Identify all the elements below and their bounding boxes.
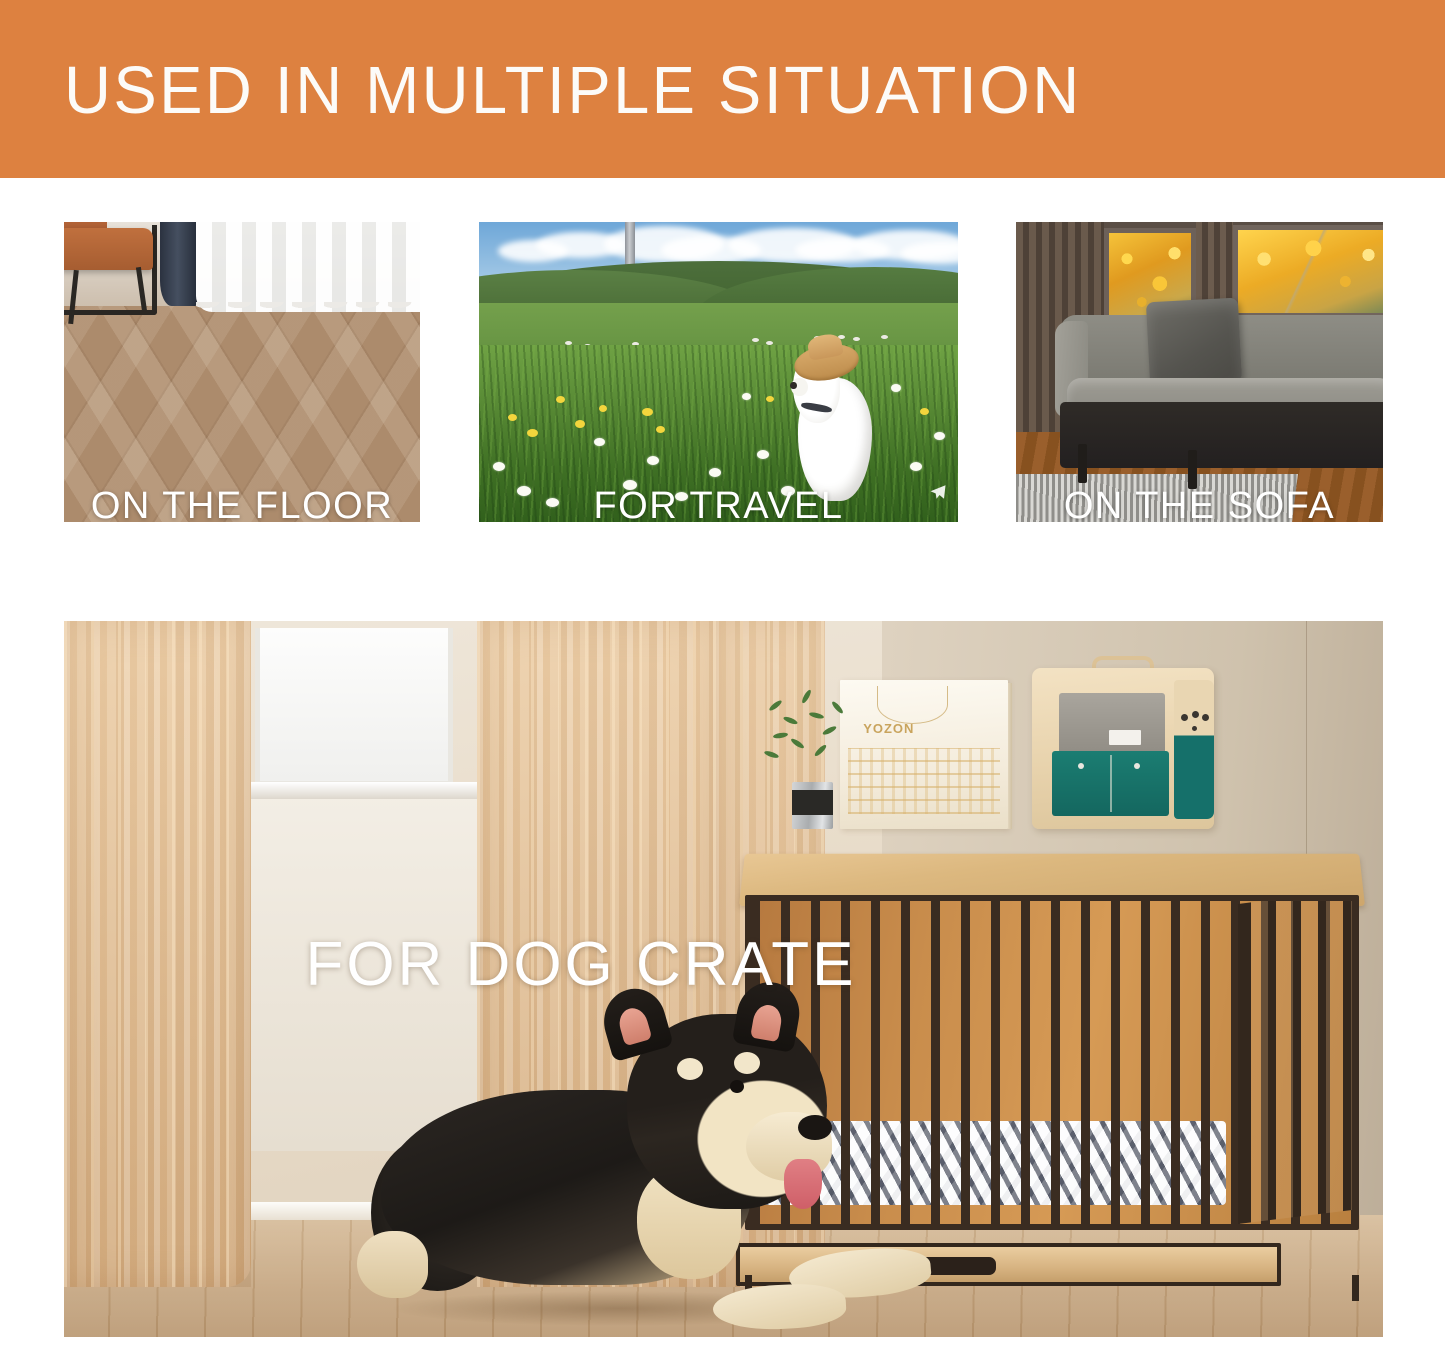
page-title: USED IN MULTIPLE SITUATION	[64, 52, 1082, 129]
armchair-seat	[64, 228, 153, 270]
carrier-front-pockets	[1052, 751, 1168, 815]
window-right	[1233, 225, 1383, 318]
pocket-snap-stud	[1078, 763, 1084, 769]
carrier-vent-hole	[1202, 714, 1209, 721]
dog-nose	[798, 1115, 831, 1140]
plant-pot-tin-can	[792, 782, 833, 829]
scenario-label-on-the-sofa: ON THE SOFA	[1016, 485, 1383, 522]
scenario-card-on-the-floor[interactable]: ON THE FLOOR	[64, 222, 420, 522]
travel-scene-image	[479, 222, 958, 522]
hero-label-for-dog-crate: FOR DOG CRATE	[64, 929, 1383, 1000]
scenario-card-for-travel[interactable]: FOR TRAVEL	[479, 222, 958, 522]
carrier-vent-hole	[1181, 714, 1188, 721]
scenario-card-on-the-sofa[interactable]: ON THE SOFA	[1016, 222, 1383, 522]
dark-curtain	[160, 222, 199, 306]
potted-plant-foliage	[756, 685, 875, 792]
carrier-brand-tag	[1109, 730, 1142, 744]
window-sill	[235, 782, 486, 799]
carrier-side-panel	[1174, 680, 1214, 819]
sofa-leg	[1188, 450, 1197, 489]
carrier-vent-hole	[1192, 711, 1199, 718]
dog-eyebrow-marking-right	[734, 1052, 760, 1074]
dog-rear-paw	[357, 1231, 428, 1297]
header-banner: USED IN MULTIPLE SITUATION	[0, 0, 1445, 178]
pet-carrier-backpack	[1032, 668, 1214, 829]
scenario-label-on-the-floor: ON THE FLOOR	[64, 485, 420, 522]
sofa-scene-image	[1016, 222, 1383, 522]
throw-cushion	[1146, 298, 1242, 387]
scenario-thumbnail-row: ON THE FLOOR	[0, 222, 1445, 522]
gift-bag-handle	[877, 686, 948, 725]
sheer-curtain	[196, 222, 420, 312]
sofa-base	[1060, 402, 1383, 468]
floor-scene-image	[64, 222, 420, 522]
paper-plane-icon	[929, 483, 947, 501]
dog-tongue	[784, 1159, 822, 1209]
gift-bag-side-gusset	[1008, 683, 1012, 829]
hero-image-for-dog-crate[interactable]: YOZON	[64, 621, 1383, 1337]
sofa-leg	[1078, 444, 1087, 483]
pocket-snap-stud	[1134, 763, 1140, 769]
white-dog-nose	[790, 382, 796, 389]
pot-label	[792, 790, 833, 814]
alaskan-malamute-dog	[381, 1008, 856, 1323]
scenario-label-for-travel: FOR TRAVEL	[479, 485, 958, 522]
window	[255, 628, 453, 786]
carrier-vent-hole	[1192, 726, 1197, 731]
dog-eye	[730, 1080, 744, 1093]
